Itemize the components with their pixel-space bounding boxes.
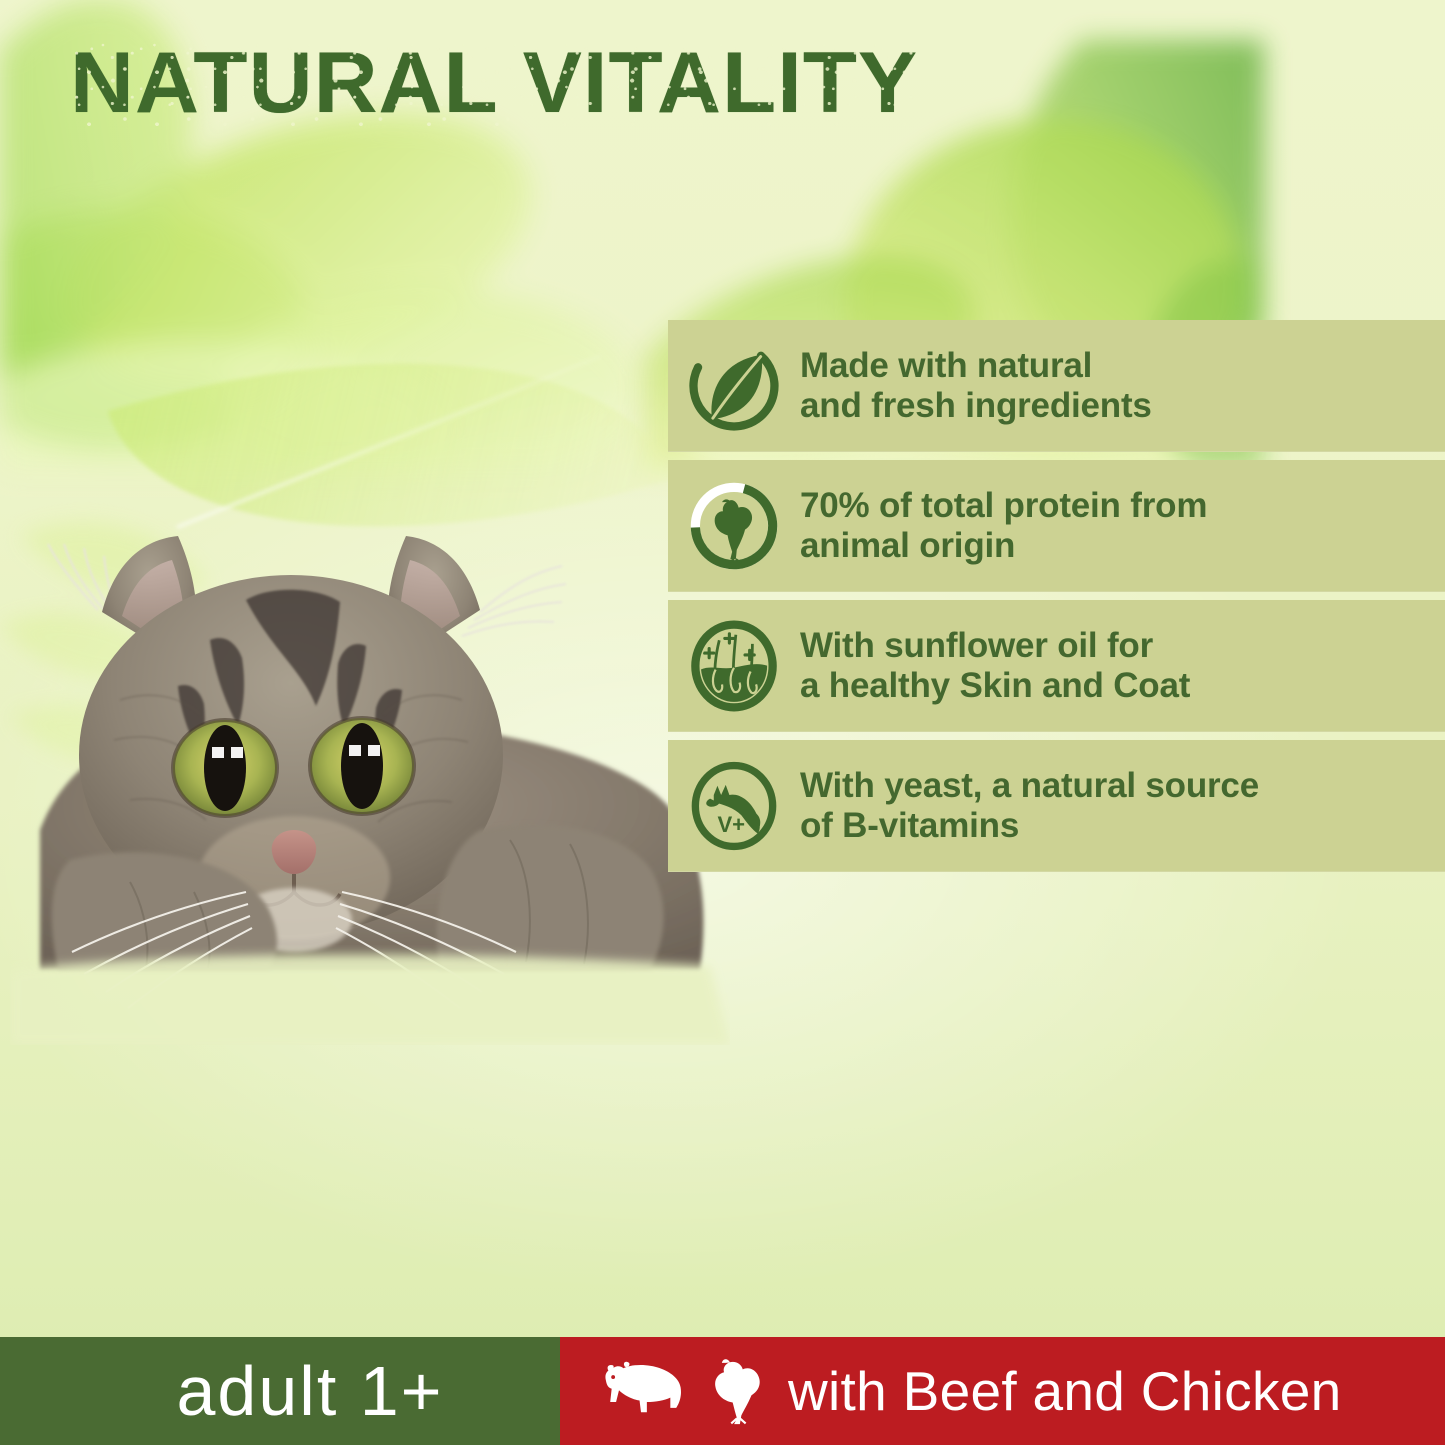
benefit-row-animal-protein: 70% of total protein from animal origin: [668, 460, 1445, 592]
life-stage-label: adult 1+: [116, 1356, 443, 1426]
leaf-circle-icon: [668, 320, 800, 452]
benefit-line-2: a healthy Skin and Coat: [800, 666, 1190, 706]
benefit-line-1: With yeast, a natural source: [800, 766, 1259, 806]
life-stage-band: adult 1+: [0, 1337, 560, 1445]
recipe-label: with Beef and Chicken: [788, 1364, 1342, 1419]
skin-coat-follicle-icon: [668, 600, 800, 732]
benefit-line-2: and fresh ingredients: [800, 386, 1152, 426]
benefit-line-1: 70% of total protein from: [800, 486, 1207, 526]
recipe-band: with Beef and Chicken: [560, 1337, 1445, 1445]
cat-vitamin-icon: V+: [668, 740, 800, 872]
page-title: NATURAL VITALITY: [70, 40, 918, 126]
cow-icon: [596, 1358, 686, 1424]
chicken-icon: [708, 1355, 766, 1427]
cat-photo: [10, 500, 730, 1045]
vitamin-icon-label: V+: [717, 812, 745, 837]
benefit-row-natural-ingredients: Made with natural and fresh ingredients: [668, 320, 1445, 452]
benefit-line-2: animal origin: [800, 526, 1207, 566]
benefit-row-b-vitamins: V+ With yeast, a natural source of B-vit…: [668, 740, 1445, 872]
page-title-text: NATURAL VITALITY: [70, 40, 918, 126]
benefit-line-1: Made with natural: [800, 346, 1152, 386]
benefit-text-natural-ingredients: Made with natural and fresh ingredients: [800, 346, 1162, 426]
benefits-list: Made with natural and fresh ingredients: [668, 320, 1445, 880]
benefit-row-skin-coat: With sunflower oil for a healthy Skin an…: [668, 600, 1445, 732]
benefit-line-1: With sunflower oil for: [800, 626, 1190, 666]
benefit-text-animal-protein: 70% of total protein from animal origin: [800, 486, 1217, 566]
footer-bar: adult 1+ with Beef and Chicken: [0, 1337, 1445, 1445]
benefit-text-b-vitamins: With yeast, a natural source of B-vitami…: [800, 766, 1269, 846]
product-pack-panel: NATURAL VITALITY: [0, 0, 1445, 1445]
chicken-donut-icon: [668, 460, 800, 592]
benefit-text-skin-coat: With sunflower oil for a healthy Skin an…: [800, 626, 1200, 706]
benefit-line-2: of B-vitamins: [800, 806, 1259, 846]
